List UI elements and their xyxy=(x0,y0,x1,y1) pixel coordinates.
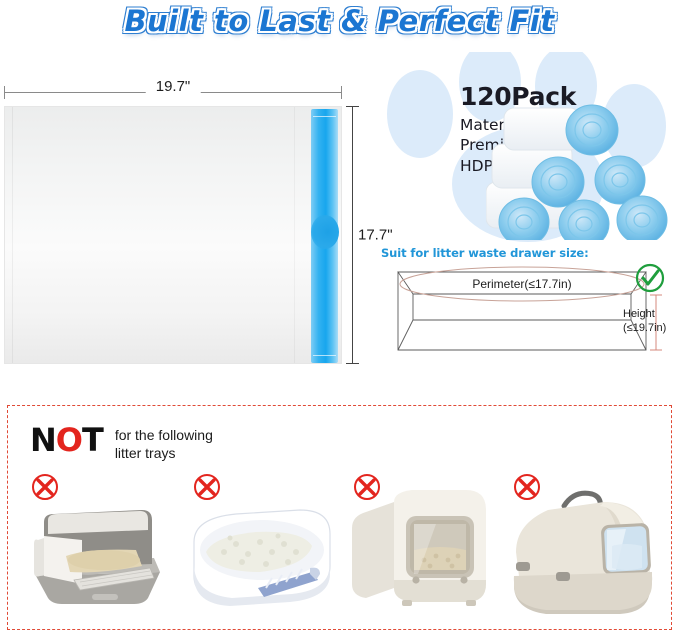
bag-strip-highlight-bottom xyxy=(313,355,336,356)
product-infographic: Built to Last & Perfect Fit 19.7" 17.7" xyxy=(0,0,679,636)
page-title: Built to Last & Perfect Fit xyxy=(124,4,554,38)
drawer-height-label-line2: (≤19.7in) xyxy=(623,322,679,336)
not-heading: NOT for the following litter trays xyxy=(30,424,213,462)
not-letter-o: O xyxy=(56,421,82,459)
check-circle-icon xyxy=(637,265,663,291)
not-subtitle: for the following litter trays xyxy=(115,427,213,462)
not-letter-n: N xyxy=(30,421,56,459)
width-dimension-cap-left xyxy=(4,86,5,99)
bag-dimension-illustration: 19.7" 17.7" xyxy=(0,78,360,368)
trash-bag-product-image xyxy=(4,106,342,364)
drawer-height-label: Height (≤19.7in) xyxy=(623,308,679,336)
bag-seam-left xyxy=(12,107,13,363)
bag-roll-bulge xyxy=(311,215,339,249)
fit-guide-title: Suit for litter waste drawer size: xyxy=(381,246,589,260)
incompatible-tray-list xyxy=(8,472,673,627)
not-subtitle-line1: for the following xyxy=(115,427,213,445)
tray-item-oval-litter-pan xyxy=(180,472,340,627)
not-word: NOT xyxy=(30,424,103,456)
not-subtitle-line2: litter trays xyxy=(115,445,213,463)
enclosed-cube-litter-box-image xyxy=(340,480,500,620)
tray-item-hooded-litter-box xyxy=(500,472,660,627)
incompatible-trays-section: NOT for the following litter trays xyxy=(7,405,672,630)
height-dimension-cap-top xyxy=(346,106,359,107)
height-dimension: 17.7" xyxy=(346,106,360,364)
height-dimension-cap-bottom xyxy=(346,363,359,364)
fit-guide-block: Suit for litter waste drawer size: Perim… xyxy=(378,246,679,366)
tray-item-open-litter-box xyxy=(18,472,178,627)
tray-item-enclosed-cube-box xyxy=(340,472,500,627)
hooded-litter-box-image xyxy=(500,480,670,620)
bag-rolls-stack-image xyxy=(486,100,679,240)
height-dimension-line xyxy=(352,106,353,364)
oval-litter-pan-image xyxy=(180,480,340,620)
open-litter-box-image xyxy=(18,480,178,620)
bag-strip-highlight-top xyxy=(313,116,336,117)
width-dimension-cap-right xyxy=(341,86,342,99)
width-dimension: 19.7" xyxy=(4,78,342,104)
perimeter-label: Perimeter(≤17.7in) xyxy=(472,277,571,291)
drawer-height-label-line1: Height xyxy=(623,308,679,322)
bag-seam-right xyxy=(294,107,295,363)
pack-info-block: 120Pack Materials: Premium HDPE xyxy=(378,52,679,242)
not-letter-t: T xyxy=(82,421,103,459)
width-dimension-value: 19.7" xyxy=(146,78,201,95)
banner: Built to Last & Perfect Fit xyxy=(0,4,679,38)
